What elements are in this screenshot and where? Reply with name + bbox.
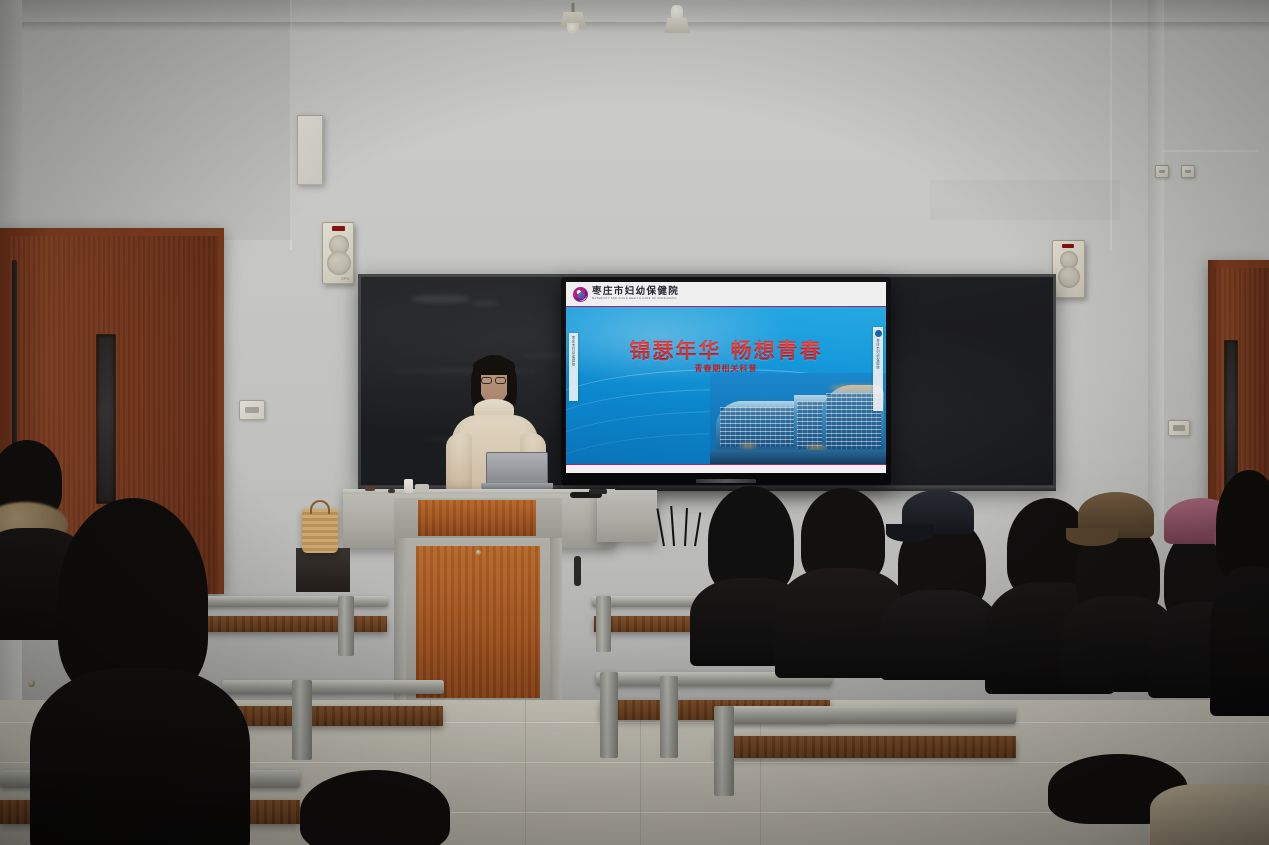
audience-member: [880, 490, 1000, 680]
slide-footer: [566, 465, 886, 473]
audience-jacket-beige: [1150, 784, 1269, 845]
woven-handbag[interactable]: [302, 509, 338, 553]
wall-outlet[interactable]: [1181, 165, 1195, 178]
slide-side-text: 枣庄市妇幼保健院: [571, 336, 576, 366]
wall-mounted-display[interactable]: 枣庄市妇幼保健院 MATERNITY AND CHILD HEALTH CARE…: [561, 277, 891, 485]
slide-org-name-en: MATERNITY AND CHILD HEALTH CARE OF ZAOZH…: [592, 298, 679, 301]
cable: [574, 556, 581, 586]
slide-header: 枣庄市妇幼保健院 MATERNITY AND CHILD HEALTH CARE…: [566, 282, 886, 306]
wall-outlet[interactable]: [239, 400, 265, 420]
audience-member: [1030, 754, 1269, 845]
desk-object[interactable]: [589, 489, 607, 494]
ceiling-light: [560, 3, 586, 33]
lecture-hall-photo: SPK 枣: [0, 0, 1269, 845]
lectern-lower-panel: [416, 546, 540, 698]
eyeglasses: [495, 377, 506, 384]
wall-seam-c: [1163, 150, 1259, 152]
desk-paper[interactable]: [415, 484, 429, 491]
handbag-handle: [310, 500, 330, 514]
front-desk-right: [597, 490, 657, 542]
side-chair[interactable]: [296, 548, 350, 592]
slide-side-strip-right: 枣庄市妇幼保健院: [873, 327, 883, 411]
audience-member: [30, 498, 250, 845]
hospital-logo-icon: [573, 287, 588, 302]
audience-member: [1216, 470, 1269, 710]
wall-column-right: [1148, 0, 1164, 520]
desk-object[interactable]: [388, 489, 395, 493]
cap-brim: [886, 524, 934, 542]
wall-panel-left: [297, 115, 323, 185]
display-brand-label: [696, 479, 756, 483]
slide-title: 锦瑟年华 畅想青春: [566, 335, 886, 365]
desk-bottle[interactable]: [404, 479, 413, 493]
slide-body: 锦瑟年华 畅想青春 青春期相关科普 枣庄市妇幼保健院: [566, 307, 886, 465]
presenter-laptop[interactable]: [486, 452, 548, 484]
slide-org-name-cn: 枣庄市妇幼保健院: [592, 287, 679, 297]
ceiling-light: [664, 1, 690, 35]
wall-speaker-right: [1052, 240, 1085, 298]
cap-brim: [1066, 528, 1118, 546]
audience-member: [300, 760, 470, 845]
desk-object[interactable]: [365, 487, 375, 491]
hospital-building-photo: [710, 373, 886, 465]
presentation-slide: 枣庄市妇幼保健院 MATERNITY AND CHILD HEALTH CARE…: [566, 282, 886, 473]
slide-side-text: 枣庄市妇幼保健院: [876, 339, 881, 369]
lectern-upper-panel: [418, 500, 536, 536]
eyeglasses: [481, 377, 492, 384]
wall-mark-right: [930, 180, 1120, 220]
slide-side-dot-icon: [875, 330, 882, 337]
wall-speaker-left: SPK: [322, 222, 354, 284]
laptop-base: [481, 483, 553, 489]
wall-outlet[interactable]: [1155, 165, 1169, 178]
wall-outlet[interactable]: [1168, 420, 1190, 436]
wall-recess-left: [0, 0, 292, 240]
slide-side-strip-left: 枣庄市妇幼保健院: [569, 333, 578, 401]
